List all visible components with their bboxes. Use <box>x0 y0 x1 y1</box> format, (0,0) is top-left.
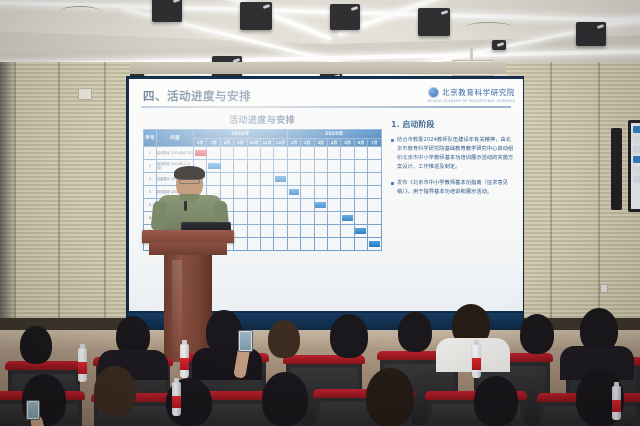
gantt-cell <box>260 147 273 160</box>
gantt-cell <box>327 199 340 212</box>
logo-name-cn: 北京教育科学研究院 <box>442 87 515 98</box>
gantt-cell <box>260 186 273 199</box>
gantt-cell <box>234 225 247 238</box>
gantt-cell <box>301 238 314 251</box>
gantt-cell <box>368 238 381 251</box>
side-display-row <box>633 146 640 153</box>
gantt-cell <box>368 212 381 225</box>
gantt-cell <box>341 199 354 212</box>
side-display-row <box>633 126 640 133</box>
gantt-cell <box>354 160 367 173</box>
gantt-month-header: 6月 <box>194 139 207 147</box>
water-bottle[interactable] <box>472 344 481 378</box>
wall-seam <box>550 62 552 330</box>
presenter-collar <box>180 194 199 202</box>
bullet-text: 结合市教委2024教师队伍建设年有关精神，由北京市教育科学研究院基础教育教学研究… <box>397 136 515 172</box>
gantt-bar <box>355 228 366 234</box>
back-wall-strip <box>118 62 526 74</box>
gantt-month-header: 8月 <box>220 139 233 147</box>
gantt-cell <box>274 225 287 238</box>
gantt-cell <box>354 186 367 199</box>
gantt-cell <box>327 147 340 160</box>
gantt-cell <box>207 147 220 160</box>
gantt-head: 序号 内容 2024年 2025年 6月7月8月9月10月11月12月1月2月3… <box>144 130 382 147</box>
gantt-cell <box>314 225 327 238</box>
gantt-bar <box>342 215 353 221</box>
gantt-cell <box>327 225 340 238</box>
gantt-cell <box>301 186 314 199</box>
gantt-year-2025: 2025年 <box>287 130 381 139</box>
ceiling-spotlight-icon <box>330 4 360 30</box>
wall-speaker <box>611 128 622 210</box>
ceiling-spotlight-icon <box>152 0 182 22</box>
ceiling-wire <box>60 6 100 16</box>
gantt-cell <box>368 173 381 186</box>
gantt-month-header: 1月 <box>287 139 300 147</box>
bottle-cap-icon <box>80 344 85 349</box>
gantt-cell <box>314 238 327 251</box>
gantt-cell <box>234 199 247 212</box>
gantt-cell <box>327 212 340 225</box>
side-display-row <box>633 136 640 143</box>
gantt-month-header: 12月 <box>274 139 287 147</box>
gantt-row: 1启动阶段 (2024年6-7月) <box>144 147 382 160</box>
gantt-cell <box>341 186 354 199</box>
institution-logo: 北京教育科学研究院 BEIJING ACADEMY OF EDUCATIONAL… <box>428 87 515 98</box>
left-wall-slat-panel <box>0 62 130 330</box>
gantt-cell <box>341 147 354 160</box>
bullet-text: 发布《北京市中小学教师基本功指南（征求意见稿）》，用于指导基本功培训和展示活动。 <box>397 179 515 197</box>
gantt-cell <box>247 173 260 186</box>
gantt-cell <box>368 147 381 160</box>
gantt-cell <box>301 173 314 186</box>
water-bottle[interactable] <box>612 386 621 420</box>
gantt-cell <box>247 186 260 199</box>
gantt-cell <box>234 186 247 199</box>
attendee-head <box>20 326 52 364</box>
gantt-caption: 活动进度与安排 <box>143 113 381 126</box>
bottle-label <box>472 358 481 370</box>
audience <box>0 300 640 426</box>
gantt-row-number: 1 <box>144 147 157 160</box>
gantt-cell <box>234 238 247 251</box>
gantt-cell <box>327 160 340 173</box>
attendee-head <box>268 320 300 358</box>
gantt-cell <box>260 160 273 173</box>
gantt-cell <box>247 199 260 212</box>
gantt-month-header: 7月 <box>368 139 381 147</box>
gantt-cell <box>341 225 354 238</box>
slide-title-rule <box>141 106 511 108</box>
gantt-cell <box>301 160 314 173</box>
gantt-cell <box>341 212 354 225</box>
gantt-cell <box>314 160 327 173</box>
bottle-cap-icon <box>614 382 619 387</box>
gantt-cell <box>354 173 367 186</box>
attendee-head <box>330 314 368 358</box>
attendee-head <box>398 312 432 352</box>
gantt-month-header: 7月 <box>207 139 220 147</box>
gantt-cell <box>260 199 273 212</box>
gantt-cell <box>194 147 207 160</box>
gantt-cell <box>274 212 287 225</box>
lapel-microphone-icon <box>184 201 187 211</box>
gantt-cell <box>234 173 247 186</box>
gantt-cell <box>247 225 260 238</box>
water-bottle[interactable] <box>180 344 189 378</box>
attendee-head <box>94 366 136 416</box>
gantt-cell <box>287 173 300 186</box>
gantt-month-header: 4月 <box>327 139 340 147</box>
gantt-month-header: 2月 <box>301 139 314 147</box>
bullet-item: 发布《北京市中小学教师基本功指南（征求意见稿）》，用于指导基本功培训和展示活动。 <box>391 179 515 197</box>
gantt-cell <box>220 147 233 160</box>
smartphone[interactable] <box>238 330 253 352</box>
gantt-bar <box>369 241 380 247</box>
gantt-cell <box>341 238 354 251</box>
ceiling-spotlight-icon <box>576 22 606 46</box>
gantt-cell <box>287 225 300 238</box>
wall-outlet <box>600 284 608 293</box>
gantt-cell <box>327 173 340 186</box>
gantt-month-header: 6月 <box>354 139 367 147</box>
gantt-month-header: 5月 <box>341 139 354 147</box>
gantt-cell <box>301 147 314 160</box>
water-bottle[interactable] <box>172 382 181 416</box>
gantt-cell <box>314 212 327 225</box>
right-column-heading: 1. 启动阶段 <box>391 119 515 130</box>
gantt-cell <box>274 147 287 160</box>
gantt-cell <box>314 173 327 186</box>
gantt-cell <box>341 173 354 186</box>
gantt-cell <box>247 238 260 251</box>
gantt-cell <box>287 199 300 212</box>
gantt-col-no: 序号 <box>144 130 157 147</box>
attendee-shoulders <box>192 348 262 380</box>
bottle-cap-icon <box>474 340 479 345</box>
gantt-cell <box>354 147 367 160</box>
slide-title: 四、活动进度与安排 <box>143 88 251 104</box>
conference-hall-scene: 四、活动进度与安排 北京教育科学研究院 BEIJING ACADEMY OF E… <box>0 0 640 426</box>
gantt-col-task: 内容 <box>157 130 194 147</box>
gantt-cell <box>301 199 314 212</box>
gantt-cell <box>274 238 287 251</box>
smartphone-screen <box>28 402 38 418</box>
gantt-bar <box>289 189 300 195</box>
side-display-row <box>633 156 640 163</box>
gantt-cell <box>354 199 367 212</box>
gantt-cell <box>341 160 354 173</box>
presenter-glasses-icon <box>179 179 200 184</box>
logo-mark-icon <box>428 87 439 98</box>
side-display-row <box>633 166 640 173</box>
gantt-bar <box>275 176 286 182</box>
gantt-cell <box>327 186 340 199</box>
presenter-hair <box>174 166 205 180</box>
gantt-cell <box>260 173 273 186</box>
gantt-cell <box>260 225 273 238</box>
gantt-cell <box>327 238 340 251</box>
bottle-label <box>180 358 189 370</box>
bullet-square-icon <box>391 139 394 142</box>
gantt-row-task: 启动阶段 (2024年6-7月) <box>157 147 194 160</box>
bottle-label <box>172 396 181 408</box>
gantt-cell <box>314 186 327 199</box>
gantt-cell <box>368 199 381 212</box>
podium-top <box>142 230 234 243</box>
ceiling-wire <box>466 22 512 32</box>
smartphone-screen <box>240 332 251 350</box>
gantt-cell <box>287 147 300 160</box>
gantt-cell <box>314 147 327 160</box>
attendee-head <box>520 314 554 354</box>
gantt-cell <box>247 212 260 225</box>
ceiling-spotlight-icon <box>492 40 506 50</box>
gantt-cell <box>234 147 247 160</box>
ceiling-spotlight-icon <box>418 8 450 36</box>
gantt-month-header: 9月 <box>234 139 247 147</box>
slide-right-column: 1. 启动阶段 结合市教委2024教师队伍建设年有关精神，由北京市教育科学研究院… <box>391 119 515 204</box>
gantt-cell <box>274 199 287 212</box>
gantt-cell <box>354 238 367 251</box>
attendee-head <box>366 368 414 426</box>
left-wall-shadow <box>0 62 16 330</box>
gantt-cell <box>314 199 327 212</box>
gantt-cell <box>247 147 260 160</box>
gantt-cell <box>368 186 381 199</box>
gantt-month-header: 10月 <box>247 139 260 147</box>
gantt-cell <box>301 212 314 225</box>
gantt-cell <box>274 173 287 186</box>
wall-seam <box>104 62 106 330</box>
gantt-cell <box>260 238 273 251</box>
gantt-bar <box>315 202 326 208</box>
gantt-cell <box>274 160 287 173</box>
smartphone[interactable] <box>26 400 40 420</box>
gantt-cell <box>234 160 247 173</box>
bullet-item: 结合市教委2024教师队伍建设年有关精神，由北京市教育科学研究院基础教育教学研究… <box>391 136 515 172</box>
podium-apron <box>149 243 227 255</box>
wall-seam <box>58 62 60 330</box>
logo-name-en: BEIJING ACADEMY OF EDUCATIONAL SCIENCES <box>428 99 515 103</box>
bottle-label <box>78 362 87 374</box>
gantt-cell <box>287 238 300 251</box>
gantt-cell <box>368 225 381 238</box>
gantt-cell <box>354 225 367 238</box>
gantt-cell <box>247 160 260 173</box>
gantt-cell <box>234 212 247 225</box>
side-display-row <box>633 176 640 183</box>
wall-sensor-box <box>78 88 92 100</box>
gantt-year-2024: 2024年 <box>194 130 288 139</box>
ceiling-spotlight-icon <box>240 2 272 30</box>
gantt-cell <box>260 212 273 225</box>
gantt-month-header: 11月 <box>260 139 273 147</box>
gantt-year-row: 序号 内容 2024年 2025年 <box>144 130 382 139</box>
gantt-cell <box>287 160 300 173</box>
side-display <box>628 120 640 212</box>
bottle-cap-icon <box>182 340 187 345</box>
gantt-cell <box>354 212 367 225</box>
gantt-cell <box>368 160 381 173</box>
gantt-cell <box>274 186 287 199</box>
gantt-cell <box>287 186 300 199</box>
gantt-cell <box>287 212 300 225</box>
bottle-label <box>612 400 621 412</box>
water-bottle[interactable] <box>78 348 87 382</box>
attendee-head <box>262 372 308 426</box>
attendee-head <box>474 376 518 426</box>
bottle-cap-icon <box>174 378 179 383</box>
gantt-month-header: 3月 <box>314 139 327 147</box>
bullet-square-icon <box>391 182 394 185</box>
gantt-cell <box>301 225 314 238</box>
